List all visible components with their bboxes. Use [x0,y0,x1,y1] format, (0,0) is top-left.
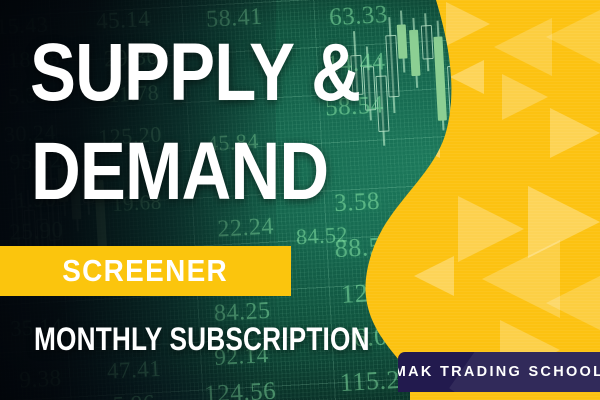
screener-badge-label: SCREENER [63,253,229,289]
screener-badge: SCREENER [0,246,291,296]
promo-poster: 15.4345.1458.4163.3318.4829.3614.445.361… [0,0,600,400]
headline-line-2: DEMAND [31,131,328,213]
yellow-panel [350,0,600,400]
brand-name: MAK TRADING SCHOOL [398,364,600,380]
brand-banner: MAK TRADING SCHOOL [398,352,600,392]
headline-line-1: SUPPLY & [30,32,360,114]
triangle-shape [410,128,440,158]
subtitle: MONTHLY SUBSCRIPTION [34,321,370,358]
yellow-grain-overlay [350,0,600,400]
yellow-curve-shape [350,0,600,400]
